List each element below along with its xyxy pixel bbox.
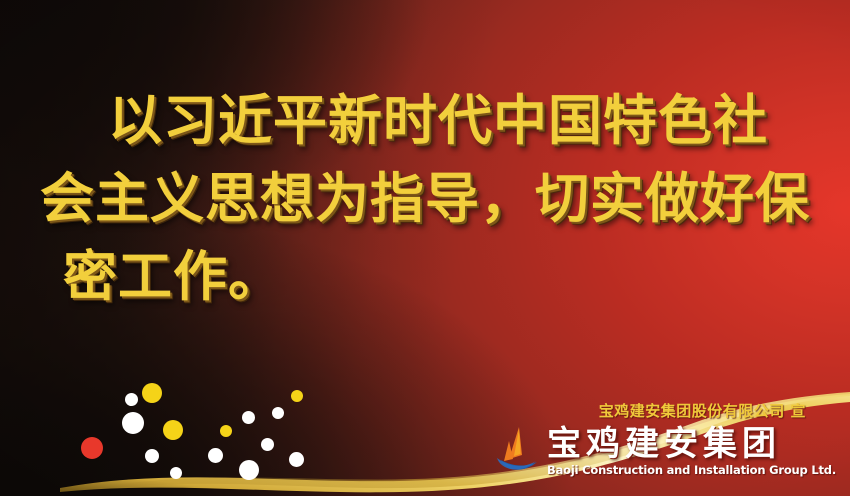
logo-chinese-name: 宝鸡建安集团 — [547, 426, 836, 462]
confetti-dot — [289, 452, 304, 467]
confetti-dot — [261, 438, 274, 451]
confetti-dot — [125, 393, 138, 406]
confetti-dot — [142, 383, 162, 403]
slogan-headline: 以习近平新时代中国特色社 会主义思想为指导，切实做好保 密工作。 — [0, 82, 850, 316]
logo-row: 宝鸡建安集团 Baoji Construction and Installati… — [416, 425, 836, 477]
confetti-dot — [291, 390, 303, 402]
issuer-line: 宝鸡建安集团股份有限公司 宣 — [416, 400, 806, 421]
confetti-dot — [220, 425, 232, 437]
confetti-dot — [208, 448, 223, 463]
confetti-dot — [239, 460, 259, 480]
logo-english-name: Baoji Construction and Installation Grou… — [547, 463, 836, 477]
confetti-dot — [170, 467, 182, 479]
logo-wordmark: 宝鸡建安集团 Baoji Construction and Installati… — [547, 426, 836, 477]
sail-wave-logo-icon — [489, 425, 545, 475]
confetti-dot — [163, 420, 183, 440]
banner-canvas: 以习近平新时代中国特色社 会主义思想为指导，切实做好保 密工作。 — [0, 0, 850, 496]
confetti-dot — [242, 411, 255, 424]
brand-block: 宝鸡建安集团股份有限公司 宣 宝鸡建安集团 Baoji Construction… — [416, 400, 836, 477]
confetti-dot — [272, 407, 284, 419]
slogan-line-3: 密工作。 — [0, 238, 850, 316]
slogan-line-2: 会主义思想为指导，切实做好保 — [0, 160, 850, 238]
slogan-line-1: 以习近平新时代中国特色社 — [0, 82, 850, 160]
confetti-dot — [122, 412, 144, 434]
confetti-dot — [81, 437, 103, 459]
confetti-dot — [145, 449, 159, 463]
